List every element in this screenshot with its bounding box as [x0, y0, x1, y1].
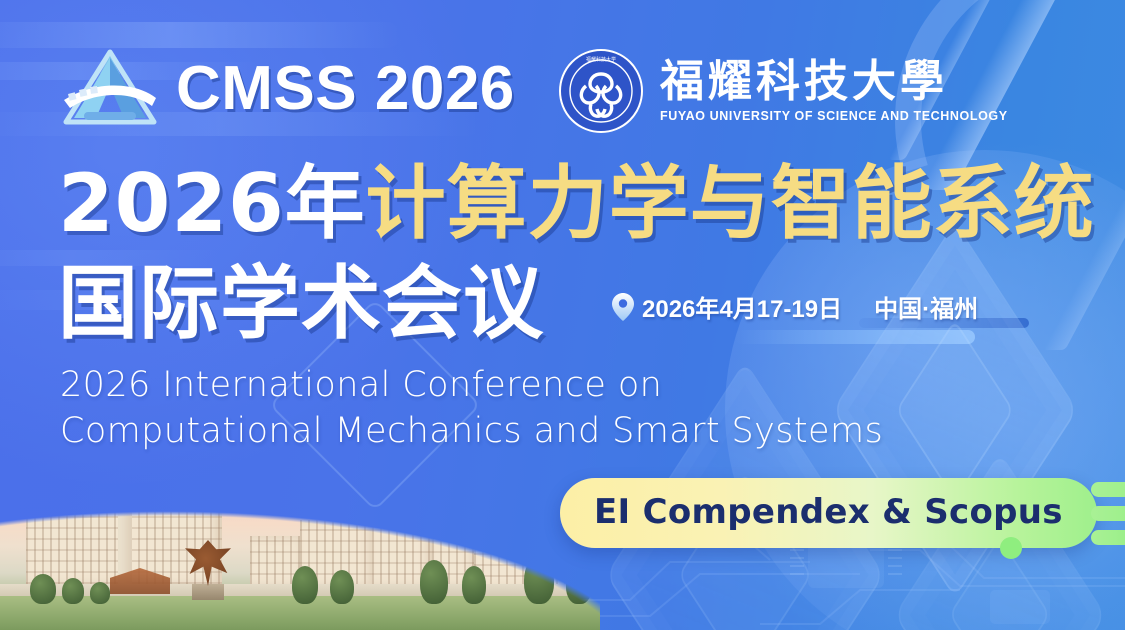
event-meta: 2026年4月17-19日 中国·福州	[612, 289, 978, 324]
university-name-en: FUYAO UNIVERSITY OF SCIENCE AND TECHNOLO…	[660, 109, 1008, 123]
title-year: 2026年	[58, 157, 366, 250]
cmss-triangle-bridge-logo-icon	[58, 46, 162, 132]
indexing-badge: EI Compendex & Scopus	[560, 478, 1125, 548]
background-ribbon-light	[735, 330, 975, 344]
page-title: 2026年计算力学与智能系统	[58, 162, 1095, 247]
conference-acronym: CMSS 2026	[176, 58, 515, 120]
green-dot-icon	[1000, 537, 1022, 559]
svg-text:福耀科技大学: 福耀科技大学	[586, 56, 616, 63]
event-date: 2026年4月17-19日	[642, 289, 842, 324]
indexing-badge-label: EI Compendex & Scopus	[594, 492, 1063, 532]
university-name-cn: 福耀科技大學	[660, 59, 1008, 105]
subtitle-line-2: Computational Mechanics and Smart System…	[60, 408, 883, 454]
title-topic: 计算力学与智能系统	[366, 157, 1095, 250]
university-lockup: 福耀科技大学 福耀科技大學 FUYAO UNIVERSITY OF SCIENC…	[558, 48, 1008, 134]
three-bar-stripes-icon	[1091, 482, 1125, 545]
conference-banner: CMSS 2026 福耀科技大学 福耀科技大學 FUYAO UNIVERSITY…	[0, 0, 1125, 630]
title-event-type: 国际学术会议	[58, 262, 544, 347]
subtitle-line-1: 2026 International Conference on	[60, 362, 883, 408]
location-pin-icon	[612, 293, 634, 321]
page-title-line2: 国际学术会议	[58, 262, 544, 347]
fuyao-university-seal-icon: 福耀科技大学	[558, 48, 644, 134]
campus-photo	[0, 440, 600, 630]
conference-branding: CMSS 2026	[58, 46, 515, 132]
background-band	[0, 22, 400, 48]
page-subtitle: 2026 International Conference on Computa…	[60, 362, 883, 454]
event-location: 中国·福州	[874, 289, 978, 324]
